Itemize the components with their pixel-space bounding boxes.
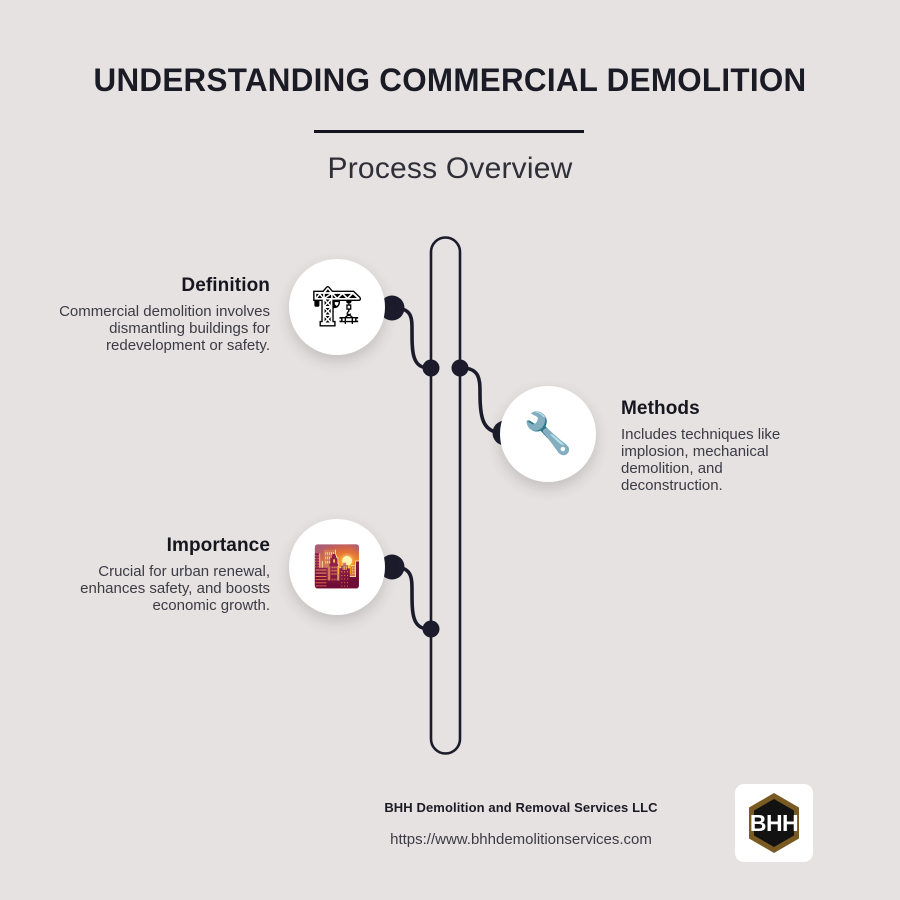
bhh-logo-mark: BHH xyxy=(741,790,807,856)
step-block-importance: Importance Crucial for urban renewal, en… xyxy=(30,535,270,614)
step-body-methods: Includes techniques like implosion, mech… xyxy=(621,426,821,494)
step-title-importance: Importance xyxy=(30,535,270,557)
icon-bubble-definition: 🏗 xyxy=(289,259,385,355)
node-definition-rail xyxy=(423,360,440,377)
wrench-icon: 🔧 xyxy=(523,414,573,454)
footer-website-url[interactable]: https://www.bhhdemolitionservices.com xyxy=(320,831,722,848)
bhh-logo: BHH xyxy=(735,784,813,862)
step-body-definition: Commercial demolition involves dismantli… xyxy=(30,303,270,354)
step-title-methods: Methods xyxy=(621,398,821,420)
step-body-importance: Crucial for urban renewal, enhances safe… xyxy=(30,563,270,614)
footer-company-name: BHH Demolition and Removal Services LLC xyxy=(320,800,722,815)
connector-definition xyxy=(394,308,429,368)
page-title: UNDERSTANDING COMMERCIAL DEMOLITION xyxy=(9,62,891,99)
step-block-methods: Methods Includes techniques like implosi… xyxy=(621,398,821,494)
logo-wordmark: BHH xyxy=(750,810,798,836)
node-importance-rail xyxy=(423,621,440,638)
icon-bubble-methods: 🔧 xyxy=(500,386,596,482)
page-subtitle: Process Overview xyxy=(0,152,900,186)
title-divider xyxy=(314,130,584,133)
spine-pill-path xyxy=(431,238,460,754)
construction-crane-icon: 🏗 xyxy=(312,287,363,327)
icon-bubble-importance: 🌇 xyxy=(289,519,385,615)
cityscape-sunset-icon: 🌇 xyxy=(312,547,362,587)
node-methods-rail xyxy=(452,360,469,377)
infographic-canvas: UNDERSTANDING COMMERCIAL DEMOLITION Proc… xyxy=(0,0,900,900)
connector-methods xyxy=(462,368,503,433)
connector-importance xyxy=(394,567,429,629)
step-title-definition: Definition xyxy=(30,275,270,297)
step-block-definition: Definition Commercial demolition involve… xyxy=(30,275,270,354)
